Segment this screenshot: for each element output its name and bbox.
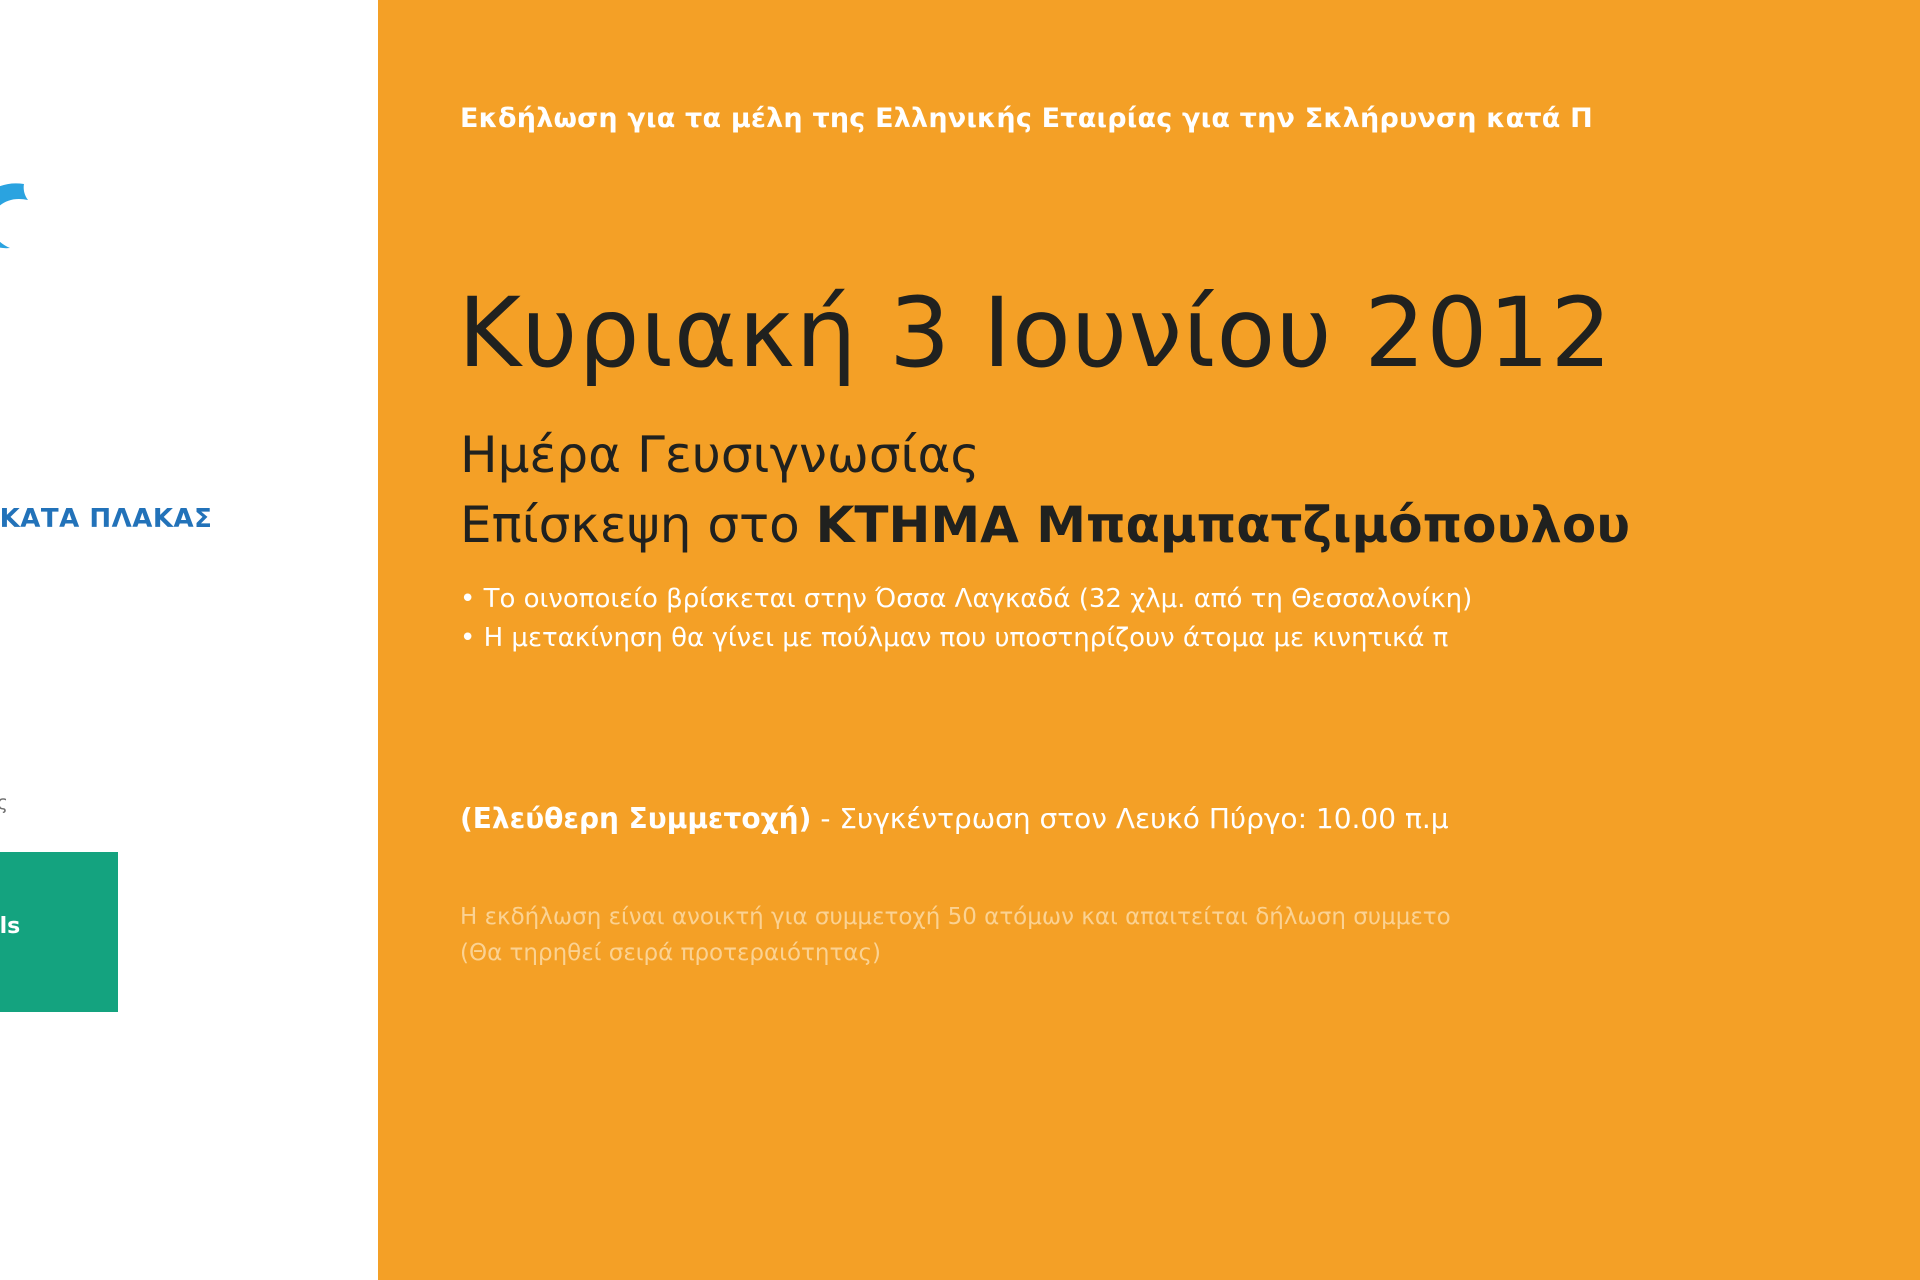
meeting-point-text: - Συγκέντρωση στον Λευκό Πύργο: 10.00 π.… xyxy=(811,802,1448,835)
venue-name: ΚΤΗΜΑ Μπαμπατζιμόπουλου xyxy=(816,496,1630,554)
org-name-line-1: ΡΙΑ xyxy=(0,470,378,503)
sponsor-logo: uticals xyxy=(0,852,118,1012)
participation-free-badge: (Ελεύθερη Συμμετοχή) xyxy=(460,802,811,835)
event-details-list: • Το οινοποιείο βρίσκεται στην Όσσα Λαγκ… xyxy=(460,580,1472,658)
list-item: • Η μετακίνηση θα γίνει με πούλμαν που υ… xyxy=(460,619,1472,658)
event-footnote: Η εκδήλωση είναι ανοικτή για συμμετοχή 5… xyxy=(460,900,1451,971)
list-item: • Το οινοποιείο βρίσκεται στην Όσσα Λαγκ… xyxy=(460,580,1472,619)
event-subtitle-primary: Ημέρα Γευσιγνωσίας xyxy=(460,430,980,480)
footnote-line-1: Η εκδήλωση είναι ανοικτή για συμμετοχή 5… xyxy=(460,900,1451,936)
event-date-headline: Κυριακή 3 Ιουνίου 2012 xyxy=(458,285,1613,381)
sidebar: ΡΙΑ ΥΝΣΗ ΚΑΤΑ ΠΛΑΚΑΣ ήριξη της uticals xyxy=(0,0,378,1280)
flyer-page: ΡΙΑ ΥΝΣΗ ΚΑΤΑ ΠΛΑΚΑΣ ήριξη της uticals Ε… xyxy=(0,0,1920,1280)
sponsor-logo-text: uticals xyxy=(0,914,20,939)
event-subtitle-venue: Επίσκεψη στο ΚΤΗΜΑ Μπαμπατζιμόπουλου xyxy=(460,500,1630,550)
event-kicker: Εκδήλωση για τα μέλη της Ελληνικής Εταιρ… xyxy=(460,103,1593,134)
venue-prefix: Επίσκεψη στο xyxy=(460,496,816,554)
footnote-line-2: (Θα τηρηθεί σειρά προτεραιότητας) xyxy=(460,936,1451,972)
organization-name: ΡΙΑ ΥΝΣΗ ΚΑΤΑ ΠΛΑΚΑΣ xyxy=(0,470,378,537)
swirl-logo-icon xyxy=(0,178,36,256)
support-label: ήριξη της xyxy=(0,792,244,814)
org-name-line-2: ΥΝΣΗ ΚΑΤΑ ΠΛΑΚΑΣ xyxy=(0,503,378,536)
participation-notice: (Ελεύθερη Συμμετοχή) - Συγκέντρωση στον … xyxy=(460,802,1449,835)
event-panel: Εκδήλωση για τα μέλη της Ελληνικής Εταιρ… xyxy=(378,0,1920,1280)
